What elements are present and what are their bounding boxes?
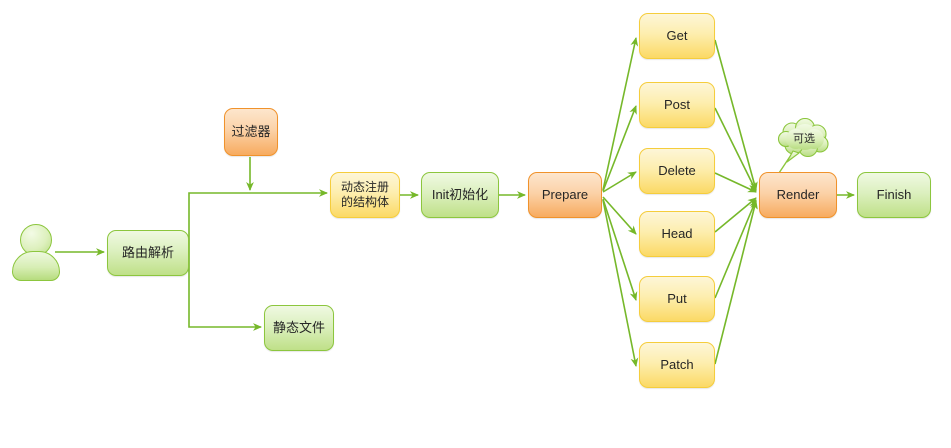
node-prepare[interactable]: Prepare xyxy=(528,172,602,218)
edge-put-render xyxy=(715,200,756,298)
edge-get-render xyxy=(715,40,756,190)
node-delete[interactable]: Delete xyxy=(639,148,715,194)
node-post[interactable]: Post xyxy=(639,82,715,128)
node-dynamic-label: 动态注册的结构体 xyxy=(341,180,389,210)
edge-prepare-head xyxy=(603,197,636,234)
node-render[interactable]: Render xyxy=(759,172,837,218)
node-init[interactable]: Init初始化 xyxy=(421,172,499,218)
node-put-label: Put xyxy=(667,291,687,307)
node-prepare-label: Prepare xyxy=(542,187,588,203)
edge-post-render xyxy=(715,108,756,191)
node-static[interactable]: 静态文件 xyxy=(264,305,334,351)
edge-route-static xyxy=(189,253,261,327)
edge-route-dynamic xyxy=(189,193,327,253)
node-delete-label: Delete xyxy=(658,163,696,179)
flowchart-canvas: 路由解析 过滤器 静态文件 动态注册的结构体 Init初始化 Prepare G… xyxy=(0,0,951,448)
callout-optional-label: 可选 xyxy=(774,118,834,166)
node-put[interactable]: Put xyxy=(639,276,715,322)
node-render-label: Render xyxy=(777,187,820,203)
node-head[interactable]: Head xyxy=(639,211,715,257)
node-init-label: Init初始化 xyxy=(432,187,488,203)
user-actor[interactable] xyxy=(8,224,62,282)
node-get[interactable]: Get xyxy=(639,13,715,59)
edge-layer xyxy=(0,0,951,448)
edge-prepare-put xyxy=(603,199,636,300)
edge-delete-render xyxy=(715,173,756,192)
node-post-label: Post xyxy=(664,97,690,113)
node-patch-label: Patch xyxy=(660,357,693,373)
node-dynamic[interactable]: 动态注册的结构体 xyxy=(330,172,400,218)
edge-prepare-post xyxy=(603,106,636,191)
edge-patch-render xyxy=(715,201,756,364)
node-head-label: Head xyxy=(661,226,692,242)
edge-head-render xyxy=(715,198,756,232)
actor-body-icon xyxy=(12,251,60,281)
node-filter[interactable]: 过滤器 xyxy=(224,108,278,156)
node-static-label: 静态文件 xyxy=(273,320,325,336)
edge-prepare-delete xyxy=(603,172,636,192)
callout-optional[interactable]: 可选 xyxy=(774,118,834,166)
node-route[interactable]: 路由解析 xyxy=(107,230,189,276)
node-patch[interactable]: Patch xyxy=(639,342,715,388)
node-finish-label: Finish xyxy=(877,187,912,203)
node-finish[interactable]: Finish xyxy=(857,172,931,218)
node-filter-label: 过滤器 xyxy=(231,124,270,140)
node-route-label: 路由解析 xyxy=(122,245,174,261)
node-get-label: Get xyxy=(667,28,688,44)
edge-prepare-patch xyxy=(603,200,636,366)
edge-prepare-get xyxy=(603,38,636,190)
